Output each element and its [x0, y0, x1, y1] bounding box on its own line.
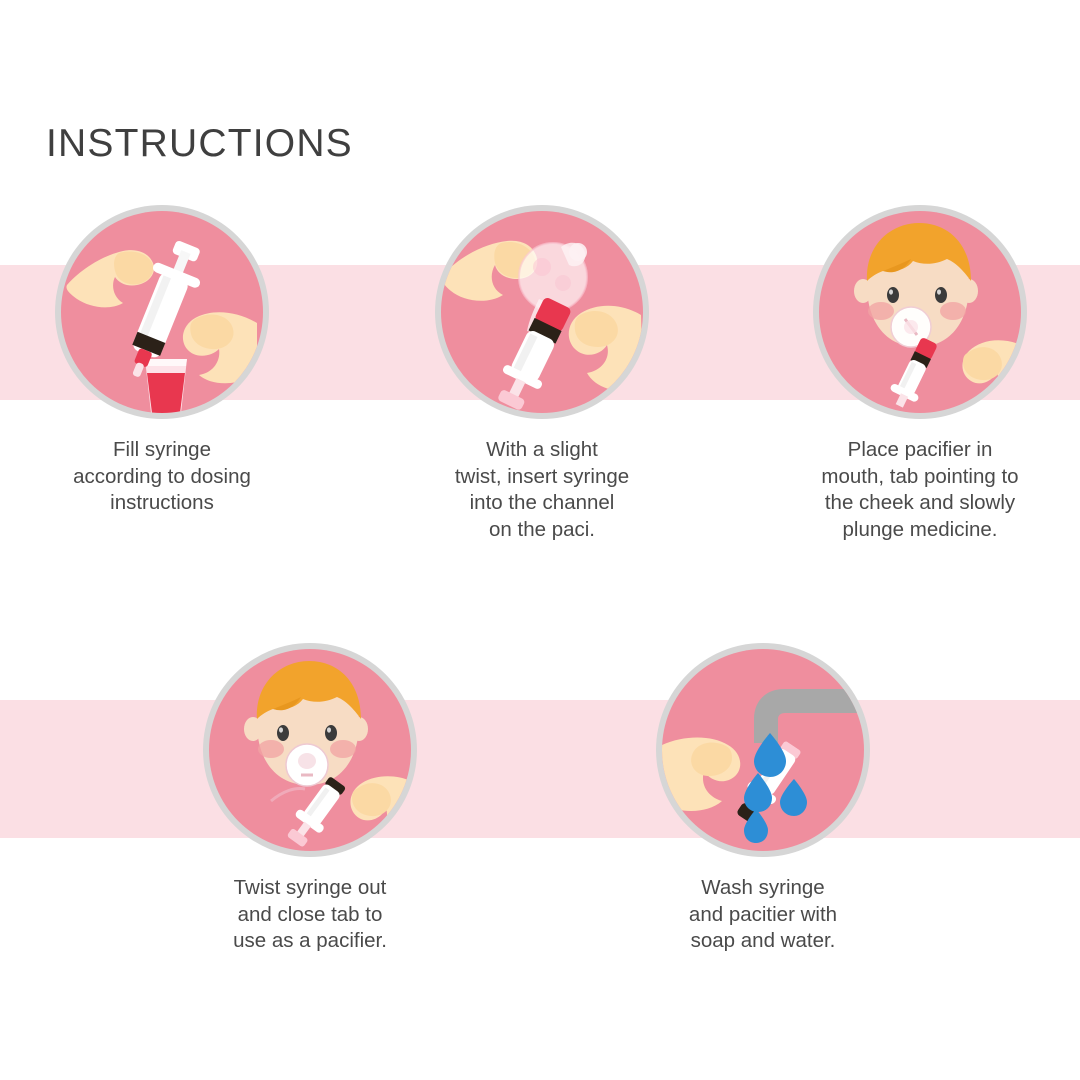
baby-twist-syringe-out-icon: [209, 649, 411, 851]
instruction-step: Fill syringe according to dosing instruc…: [12, 205, 312, 517]
wash-syringe-faucet-icon: [662, 649, 864, 851]
step-caption: Place pacifier in mouth, tab pointing to…: [770, 437, 1070, 543]
step-illustration-circle: [55, 205, 269, 419]
step-caption: Fill syringe according to dosing instruc…: [12, 437, 312, 517]
instructions-infographic: INSTRUCTIONS: [0, 0, 1080, 1080]
step-illustration-circle: [813, 205, 1027, 419]
step-illustration-circle: [656, 643, 870, 857]
step-caption: Wash syringe and pacitier with soap and …: [613, 875, 913, 955]
instruction-step: Wash syringe and pacitier with soap and …: [613, 643, 913, 955]
step-caption: With a slight twist, insert syringe into…: [392, 437, 692, 543]
circle-fill: [61, 211, 263, 413]
syringe-into-pacifier-icon: [441, 211, 643, 413]
page-title: INSTRUCTIONS: [46, 122, 353, 166]
step-illustration-circle: [435, 205, 649, 419]
circle-fill: [662, 649, 864, 851]
baby-plunge-medicine-icon: [819, 211, 1021, 413]
instruction-step: Place pacifier in mouth, tab pointing to…: [770, 205, 1070, 543]
instruction-step: With a slight twist, insert syringe into…: [392, 205, 692, 543]
circle-fill: [441, 211, 643, 413]
syringe-fill-icon: [61, 211, 263, 413]
step-caption: Twist syringe out and close tab to use a…: [160, 875, 460, 955]
circle-fill: [819, 211, 1021, 413]
circle-fill: [209, 649, 411, 851]
instruction-step: Twist syringe out and close tab to use a…: [160, 643, 460, 955]
step-illustration-circle: [203, 643, 417, 857]
